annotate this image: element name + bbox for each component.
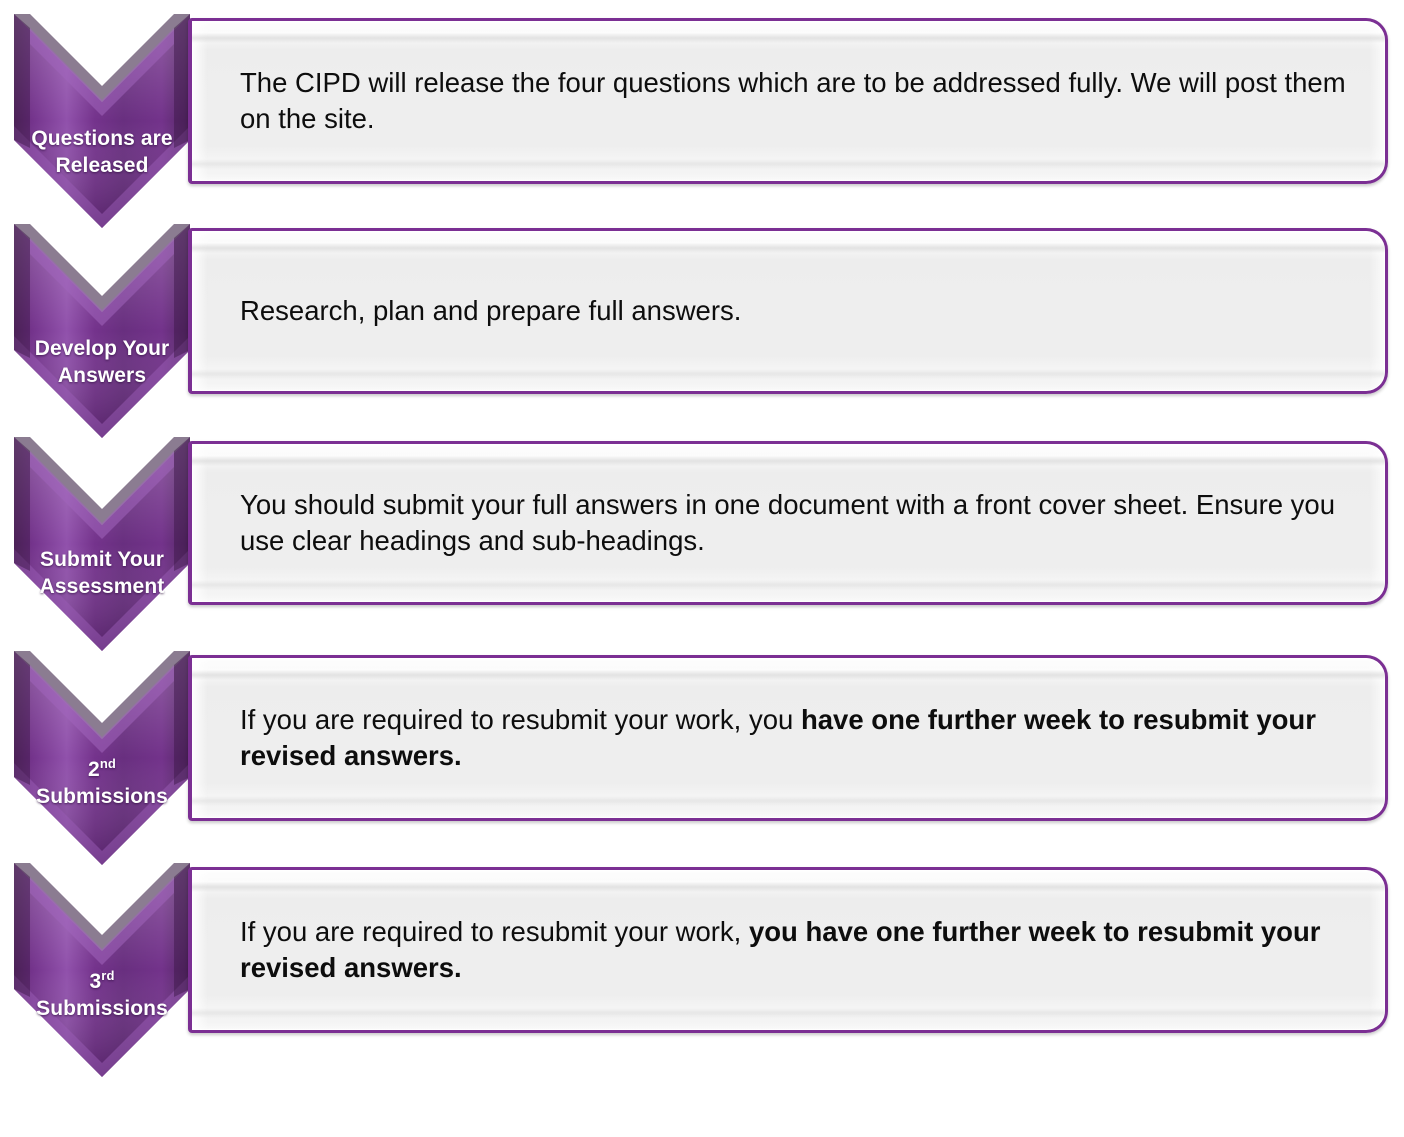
textbox-3rd-submissions[interactable]: If you are required to resubmit your wor… xyxy=(188,867,1388,1033)
process-flow-diagram: Questions are Released The CIPD will rel… xyxy=(0,0,1404,1137)
textbox-body: If you are required to resubmit your wor… xyxy=(192,658,1385,818)
textbox-text-plain: The CIPD will release the four questions… xyxy=(240,67,1346,134)
textbox-submit-your-assessment[interactable]: You should submit your full answers in o… xyxy=(188,441,1388,605)
textbox-body: If you are required to resubmit your wor… xyxy=(192,870,1385,1030)
chevron-shape-questions-released[interactable]: Questions are Released xyxy=(14,14,190,228)
textbox-text-plain: If you are required to resubmit your wor… xyxy=(240,916,749,947)
textbox-develop-your-answers[interactable]: Research, plan and prepare full answers. xyxy=(188,228,1388,394)
textbox-questions-released[interactable]: The CIPD will release the four questions… xyxy=(188,18,1388,184)
textbox-2nd-submissions[interactable]: If you are required to resubmit your wor… xyxy=(188,655,1388,821)
textbox-text-plain: You should submit your full answers in o… xyxy=(240,489,1335,556)
chevron-shape-develop-your-answers[interactable]: Develop Your Answers xyxy=(14,224,190,438)
chevron-shape-2nd-submissions[interactable]: 2nd Submissions xyxy=(14,651,190,865)
textbox-text-plain: If you are required to resubmit your wor… xyxy=(240,704,801,735)
chevron-shape-3rd-submissions[interactable]: 3rd Submissions xyxy=(14,863,190,1077)
textbox-text-plain: Research, plan and prepare full answers. xyxy=(240,295,741,326)
textbox-body: You should submit your full answers in o… xyxy=(192,444,1385,602)
textbox-body: Research, plan and prepare full answers. xyxy=(192,231,1385,391)
chevron-shape-submit-your-assessment[interactable]: Submit Your Assessment xyxy=(14,437,190,651)
textbox-body: The CIPD will release the four questions… xyxy=(192,21,1385,181)
